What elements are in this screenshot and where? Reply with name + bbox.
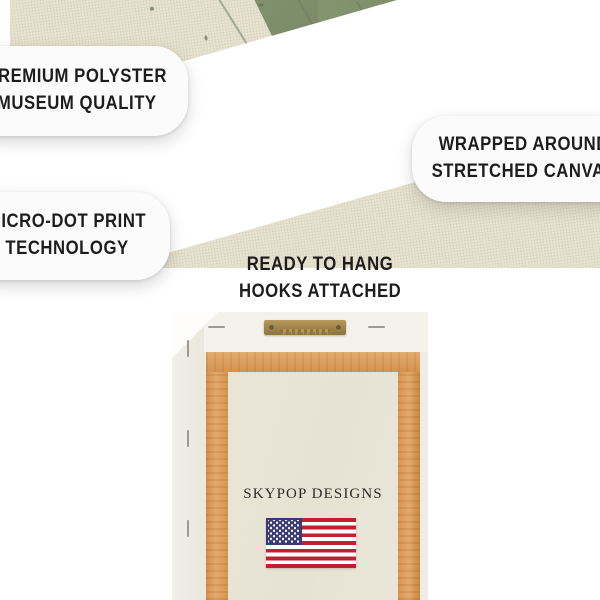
hanger-screw-hole [335,324,342,331]
flag-canton [266,518,302,545]
canvas-staple [187,520,189,537]
caption-ready-to-hang: READY TO HANG HOOKS ATTACHED [228,252,412,306]
wooden-stretcher-bar-top [206,352,420,372]
canvas-staple [368,326,385,328]
badge-line-1: WRAPPED AROUND [439,132,600,159]
canvas-staple [187,340,189,357]
feature-badge-wrapped-around[interactable]: WRAPPED AROUND STRETCHED CANVAS [412,116,600,202]
hanger-screw-hole [268,324,275,331]
wooden-stretcher-bar-left [206,352,228,600]
badge-line-1: MICRO-DOT PRINT [0,209,147,236]
brand-name: SKYPOP DESIGNS [214,486,412,503]
canvas-staple [208,326,225,328]
sawtooth-teeth [280,329,330,335]
feature-badge-micro-dot-print[interactable]: MICRO-DOT PRINT TECHNOLOGY [0,192,170,280]
flag-stars [268,520,300,543]
canvas-back-photo: SKYPOP DESIGNS [172,312,428,600]
canvas-left-edge [172,326,204,600]
wooden-stretcher-bar-right [398,352,420,600]
badge-line-2: TECHNOLOGY [5,236,128,263]
feature-badge-premium-polyster[interactable]: PREMIUM POLYSTER MUSEUM QUALITY [0,46,188,136]
paint-fleck [204,35,208,40]
sawtooth-hanger [264,320,346,335]
us-flag [266,518,356,568]
canvas-staple [187,430,189,447]
product-infographic: PREMIUM POLYSTER MUSEUM QUALITY WRAPPED … [0,0,600,600]
badge-line-2: STRETCHED CANVAS [432,159,600,186]
caption-line-1: READY TO HANG [239,252,401,279]
badge-line-1: PREMIUM POLYSTER [0,64,167,91]
badge-line-2: MUSEUM QUALITY [0,91,157,118]
caption-line-2: HOOKS ATTACHED [239,279,401,306]
